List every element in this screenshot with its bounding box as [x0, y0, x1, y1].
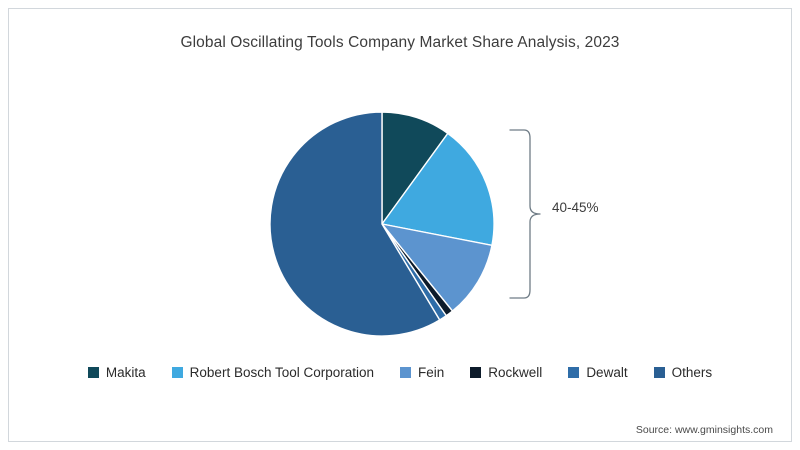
legend-swatch-icon	[654, 367, 665, 378]
pie-svg	[268, 110, 496, 338]
page-title: Global Oscillating Tools Company Market …	[0, 34, 800, 52]
legend-item[interactable]: Rockwell	[470, 365, 542, 380]
annotation-label: 40-45%	[552, 200, 599, 215]
legend-swatch-icon	[400, 367, 411, 378]
legend-swatch-icon	[568, 367, 579, 378]
chart-page: Global Oscillating Tools Company Market …	[0, 0, 800, 450]
legend-label: Rockwell	[488, 365, 542, 380]
legend-item[interactable]: Makita	[88, 365, 146, 380]
legend-swatch-icon	[470, 367, 481, 378]
legend-label: Fein	[418, 365, 444, 380]
legend-item[interactable]: Dewalt	[568, 365, 627, 380]
pie-chart	[268, 110, 496, 338]
legend-item[interactable]: Fein	[400, 365, 444, 380]
source-note: Source: www.gminsights.com	[636, 424, 773, 436]
legend-label: Makita	[106, 365, 146, 380]
legend-swatch-icon	[88, 367, 99, 378]
legend-item[interactable]: Others	[654, 365, 713, 380]
pie-slice-group	[270, 112, 494, 336]
curly-brace-icon	[500, 128, 560, 300]
legend-item[interactable]: Robert Bosch Tool Corporation	[172, 365, 374, 380]
plot-area: 40-45%	[0, 100, 800, 350]
legend-label: Dewalt	[586, 365, 627, 380]
chart-legend: MakitaRobert Bosch Tool CorporationFeinR…	[0, 365, 800, 380]
annotation-bracket	[500, 128, 560, 300]
legend-label: Others	[672, 365, 713, 380]
legend-label: Robert Bosch Tool Corporation	[190, 365, 374, 380]
legend-swatch-icon	[172, 367, 183, 378]
